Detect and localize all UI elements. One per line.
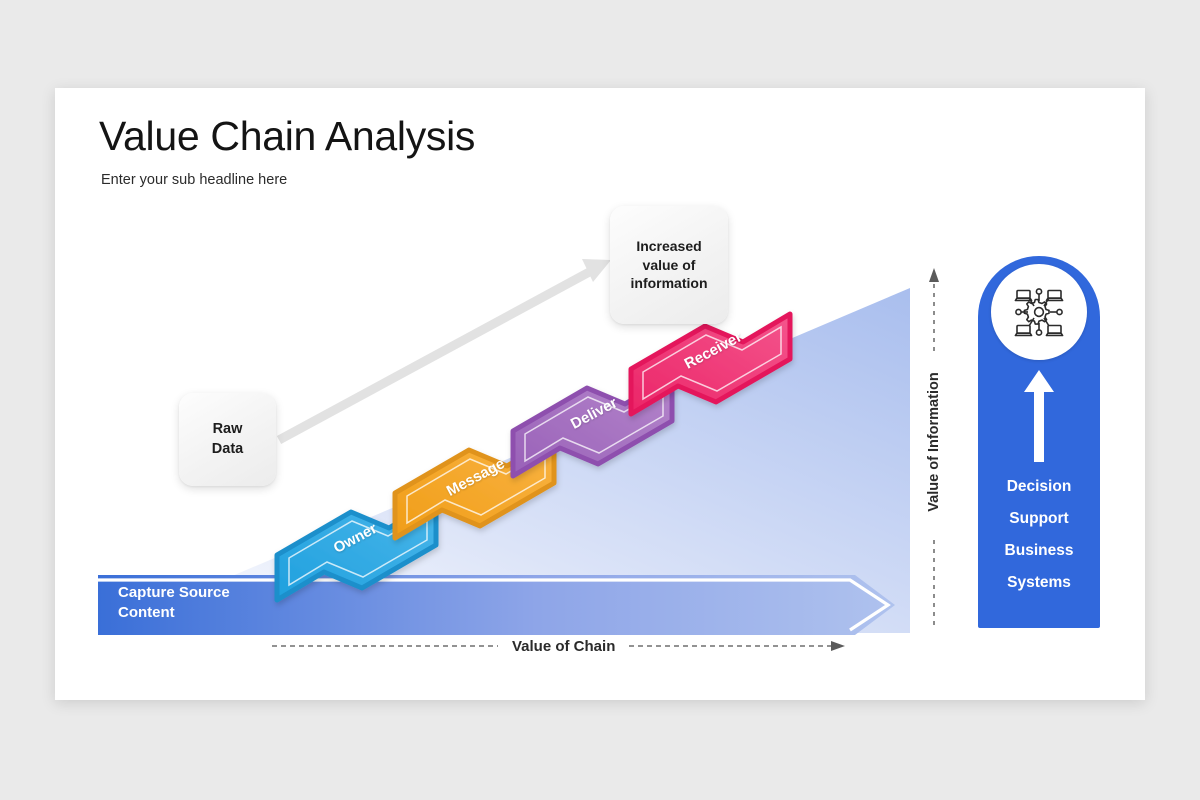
callout-increased-value-line2: value of bbox=[631, 256, 708, 274]
panel-line-support: Support bbox=[978, 510, 1100, 528]
up-arrow-icon bbox=[1022, 368, 1056, 464]
screenshot-canvas: Value Chain Analysis Enter your sub head… bbox=[0, 0, 1200, 800]
callout-increased-value-line3: information bbox=[631, 274, 708, 292]
callout-increased-value[interactable]: Increased value of information bbox=[610, 206, 728, 324]
panel-text-block: Decision Support Business Systems bbox=[978, 478, 1100, 606]
callout-raw-data[interactable]: Raw Data bbox=[179, 393, 276, 486]
horizontal-axis-dash-left bbox=[270, 639, 500, 653]
network-gear-icon bbox=[1007, 280, 1071, 344]
baseline-bar-label-line2: Content bbox=[118, 603, 230, 623]
horizontal-axis-label: Value of Chain bbox=[500, 638, 627, 655]
panel-line-business: Business bbox=[978, 542, 1100, 560]
panel-icon-container bbox=[991, 264, 1087, 360]
callout-raw-data-line1: Raw bbox=[212, 420, 243, 439]
value-chain-diagram: Owner Message Deliver Receiver Capture S… bbox=[55, 88, 1145, 700]
vertical-axis: Value of Information bbox=[911, 256, 957, 628]
decision-support-panel[interactable]: Decision Support Business Systems bbox=[978, 256, 1100, 628]
slide-card: Value Chain Analysis Enter your sub head… bbox=[55, 88, 1145, 700]
panel-line-systems: Systems bbox=[978, 574, 1100, 592]
panel-line-decision: Decision bbox=[978, 478, 1100, 496]
vertical-axis-label: Value of Information bbox=[926, 372, 942, 511]
horizontal-axis-dash-right-arrow bbox=[627, 639, 847, 653]
callout-raw-data-line2: Data bbox=[212, 440, 243, 459]
callout-increased-value-line1: Increased bbox=[631, 237, 708, 255]
baseline-bar-label: Capture Source Content bbox=[118, 583, 230, 622]
horizontal-axis: Value of Chain bbox=[270, 628, 850, 664]
baseline-bar-label-line1: Capture Source bbox=[118, 583, 230, 603]
